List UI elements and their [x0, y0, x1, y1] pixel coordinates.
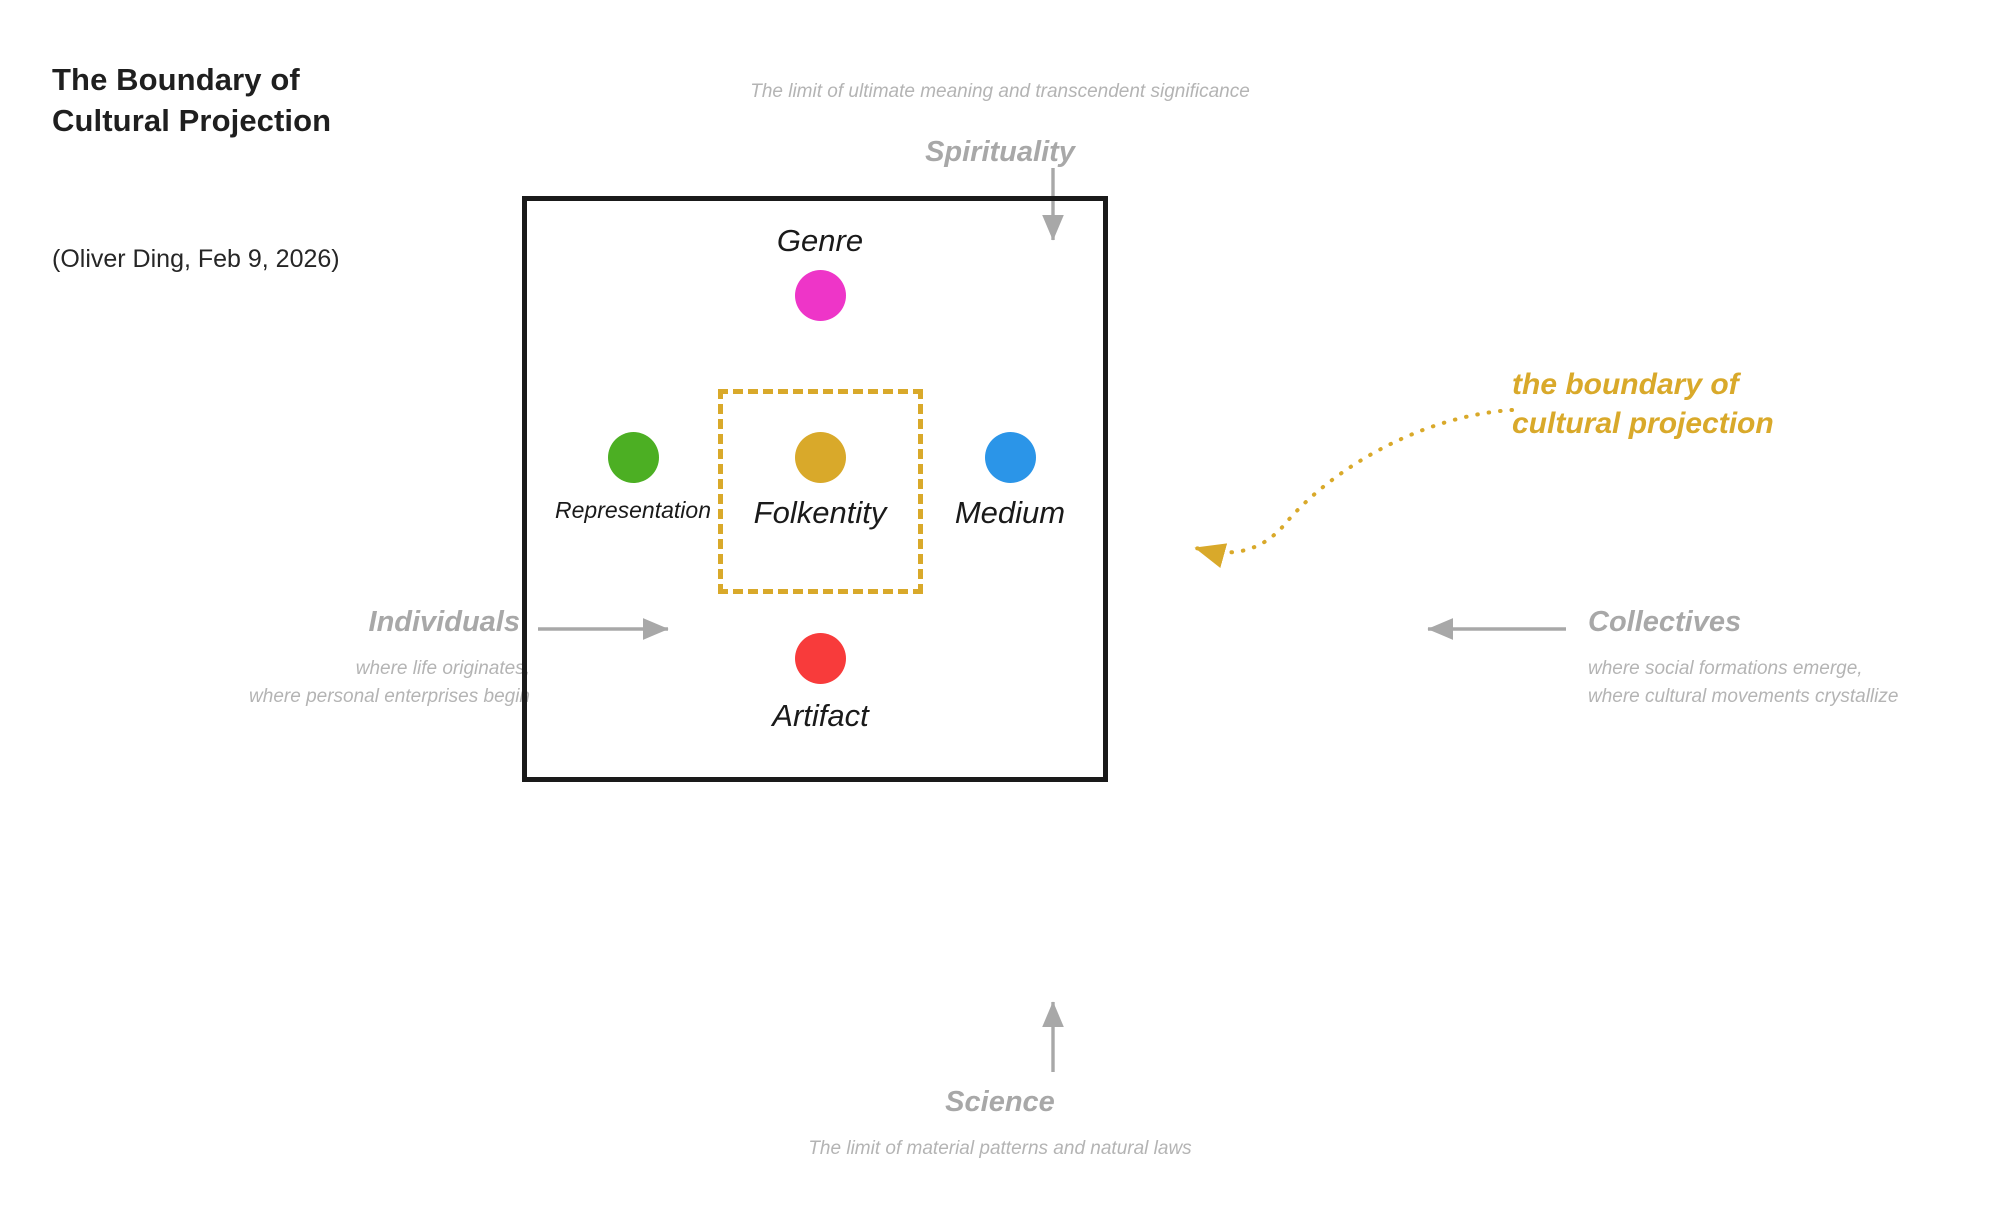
science-title: Science [0, 1088, 2000, 1117]
boundary-annotation-line-1: the boundary of [1512, 365, 1774, 404]
node-medium-label: Medium [955, 497, 1065, 528]
node-folkentity-label: Folkentity [754, 497, 887, 528]
collectives-caption-line-2: where cultural movements crystallize [1588, 683, 1898, 711]
node-representation-label: Representation [555, 499, 711, 522]
node-genre-label: Genre [777, 225, 863, 256]
node-medium-dot [985, 432, 1036, 483]
node-genre-dot [795, 270, 846, 321]
individuals-caption: where life originates, where personal en… [0, 655, 530, 710]
collectives-caption-line-1: where social formations emerge, [1588, 655, 1898, 683]
node-artifact-label: Artifact [772, 700, 868, 731]
collectives-caption: where social formations emerge, where cu… [1588, 655, 1898, 710]
individuals-title: Individuals [0, 608, 520, 637]
node-medium[interactable]: Medium [910, 432, 1110, 528]
node-folkentity-dot [795, 432, 846, 483]
boundary-annotation-line-2: cultural projection [1512, 404, 1774, 443]
boundary-annotation-label: the boundary of cultural projection [1512, 365, 1774, 443]
byline: (Oliver Ding, Feb 9, 2026) [52, 245, 340, 274]
node-representation-dot [608, 432, 659, 483]
diagram-canvas: The Boundary of Cultural Projection (Oli… [0, 0, 2000, 1227]
collectives-title: Collectives [1588, 608, 1741, 637]
page-title-line-2: Cultural Projection [52, 101, 472, 142]
individuals-caption-line-2: where personal enterprises begin [0, 683, 530, 711]
science-caption: The limit of material patterns and natur… [0, 1135, 2000, 1163]
node-genre[interactable]: Genre [700, 225, 940, 321]
individuals-caption-line-1: where life originates, [0, 655, 530, 683]
node-representation[interactable]: Representation [528, 432, 738, 522]
boundary-annotation-pointer [1196, 410, 1512, 552]
node-artifact[interactable]: Artifact [718, 633, 923, 731]
node-artifact-dot [795, 633, 846, 684]
spirituality-caption: The limit of ultimate meaning and transc… [0, 78, 2000, 106]
node-folkentity[interactable]: Folkentity [720, 432, 920, 528]
spirituality-title: Spirituality [0, 138, 2000, 167]
